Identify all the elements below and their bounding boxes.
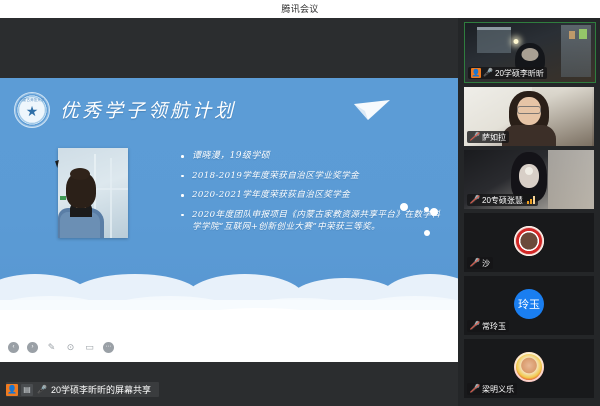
screen-share-icon: ▤ — [21, 384, 33, 396]
participant-tile[interactable]: 玲玉 🎤 常玲玉 — [464, 276, 594, 335]
share-status-label: 20学硕李昕昕的屏幕共享 — [51, 383, 154, 396]
presenter-toolbar[interactable]: ‹ › ✎ ⊙ ▭ ⋯ — [8, 338, 148, 356]
student-portrait-photo — [58, 148, 128, 238]
participant-name: 20专硕张慧 — [482, 195, 523, 206]
participant-badge: 🎤 常玲玉 — [467, 320, 509, 332]
university-seal-logo: 内蒙古师范大学 ★ — [14, 92, 50, 128]
microphone-muted-icon: 🎤 — [470, 132, 480, 142]
slide-title: 优秀学子领航计划 — [60, 96, 236, 123]
participant-tile[interactable]: 🎤 20专硕张慧 — [464, 150, 594, 209]
participant-badge: 🎤 20专硕张慧 — [467, 194, 538, 206]
decorative-dot — [424, 207, 429, 212]
next-slide-button[interactable]: › — [27, 342, 38, 353]
presentation-slide[interactable]: 内蒙古师范大学 ★ 优秀学子领航计划 — [0, 78, 458, 336]
microphone-icon: 🎤 — [36, 384, 48, 396]
participant-name: 沙 — [482, 258, 490, 269]
signal-strength-icon — [527, 196, 535, 204]
person-share-icon: 👤 — [471, 68, 481, 78]
participant-strip[interactable]: 👤 🎤 20学硕李昕昕 🎤 萨如拉 🎤 20专硕张慧 — [458, 18, 600, 406]
logo-bird-glyph: ★ — [26, 104, 39, 118]
participant-tile[interactable]: 🎤 梁明义乐 — [464, 339, 594, 398]
participant-badge: 🎤 梁明义乐 — [467, 383, 517, 395]
microphone-muted-icon: 🎤 — [470, 258, 480, 268]
person-orange-icon: 👤 — [6, 384, 18, 396]
shared-screen-region[interactable]: 内蒙古师范大学 ★ 优秀学子领航计划 — [0, 18, 458, 406]
pen-annotation-button[interactable]: ✎ — [46, 342, 57, 353]
decorative-dot — [400, 203, 408, 211]
participant-name: 常玲玉 — [482, 321, 506, 332]
participant-name: 梁明义乐 — [482, 384, 514, 395]
participant-tile[interactable]: 👤 🎤 20学硕李昕昕 — [464, 22, 596, 83]
window-title: 腾讯会议 — [0, 0, 600, 18]
slide-navigator-button[interactable]: ⊙ — [65, 342, 76, 353]
microphone-muted-icon: 🎤 — [470, 321, 480, 331]
microphone-muted-icon: 🎤 — [470, 195, 480, 205]
participant-tile[interactable]: 🎤 萨如拉 — [464, 87, 594, 146]
avatar-initials: 玲玉 — [518, 296, 540, 312]
microphone-muted-icon: 🎤 — [470, 384, 480, 394]
more-options-button[interactable]: ⋯ — [103, 342, 114, 353]
bullet-item: 谭晓漫，19级学硕 — [180, 150, 448, 163]
cloud-decoration — [0, 266, 458, 336]
avatar: 玲玉 — [514, 289, 544, 319]
participant-tile[interactable]: 🎤 沙 — [464, 213, 594, 272]
bullet-item: 2018-2019学年度荣获自治区学业奖学金 — [180, 170, 448, 183]
microphone-icon: 🎤 — [483, 68, 493, 78]
video-button[interactable]: ▭ — [84, 342, 95, 353]
previous-slide-button[interactable]: ‹ — [8, 342, 19, 353]
participant-badge: 🎤 萨如拉 — [467, 131, 509, 143]
bullet-item: 2020年度团队申报项目《内蒙古家教资源共享平台》在数学科学学院“互联网+创新创… — [180, 209, 448, 234]
participant-name: 萨如拉 — [482, 132, 506, 143]
participant-badge: 🎤 沙 — [467, 257, 493, 269]
decorative-dot — [424, 230, 430, 236]
screen-share-status-bar[interactable]: 👤 ▤ 🎤 20学硕李昕昕的屏幕共享 — [6, 382, 159, 397]
slide-bullet-list: 谭晓漫，19级学硕 2018-2019学年度荣获自治区学业奖学金 2020-20… — [180, 150, 448, 234]
decorative-dot — [430, 208, 438, 216]
logo-arc-text: 内蒙古师范大学 — [15, 97, 49, 102]
avatar — [514, 352, 544, 382]
window-titlebar: 腾讯会议 — [0, 0, 600, 19]
paper-plane-icon — [352, 98, 392, 124]
participant-badge: 👤 🎤 20学硕李昕昕 — [468, 67, 547, 79]
bullet-item: 2020-2021学年度荣获荻自治区奖学金 — [180, 189, 448, 202]
avatar — [514, 226, 544, 256]
participant-name: 20学硕李昕昕 — [495, 68, 544, 79]
